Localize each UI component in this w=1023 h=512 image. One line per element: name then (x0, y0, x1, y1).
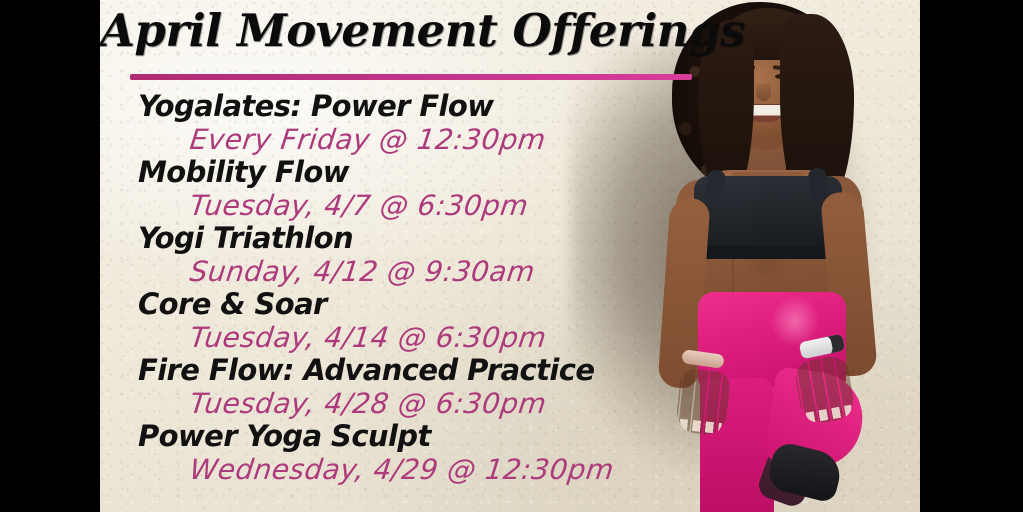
title-divider-rule (130, 74, 692, 80)
list-item: Power Yoga Sculpt Wednesday, 4/29 @ 12:3… (100, 420, 700, 486)
flyer-poster: April Movement Offerings Yogalates: Powe… (0, 0, 1023, 512)
flyer-content-area: April Movement Offerings Yogalates: Powe… (100, 0, 920, 512)
class-schedule-list: Yogalates: Power Flow Every Friday @ 12:… (100, 90, 700, 486)
class-name: Yogalates: Power Flow (100, 90, 700, 123)
class-time: Tuesday, 4/28 @ 6:30pm (100, 387, 702, 420)
list-item: Core & Soar Tuesday, 4/14 @ 6:30pm (100, 288, 700, 354)
class-name: Fire Flow: Advanced Practice (100, 354, 700, 387)
class-time: Sunday, 4/12 @ 9:30am (100, 255, 702, 288)
letterbox-bar-left (0, 0, 100, 512)
list-item: Mobility Flow Tuesday, 4/7 @ 6:30pm (100, 156, 700, 222)
class-name: Yogi Triathlon (100, 222, 700, 255)
class-name: Core & Soar (100, 288, 700, 321)
list-item: Fire Flow: Advanced Practice Tuesday, 4/… (100, 354, 700, 420)
letterbox-bar-right (920, 0, 1023, 512)
list-item: Yogalates: Power Flow Every Friday @ 12:… (100, 90, 700, 156)
class-name: Mobility Flow (100, 156, 700, 189)
list-item: Yogi Triathlon Sunday, 4/12 @ 9:30am (100, 222, 700, 288)
class-time: Tuesday, 4/14 @ 6:30pm (100, 321, 702, 354)
class-name: Power Yoga Sculpt (100, 420, 700, 453)
class-time: Tuesday, 4/7 @ 6:30pm (100, 189, 702, 222)
page-title: April Movement Offerings (100, 4, 700, 57)
bra-band (694, 246, 842, 259)
class-time: Wednesday, 4/29 @ 12:30pm (100, 453, 702, 486)
class-time: Every Friday @ 12:30pm (100, 123, 702, 156)
nose (756, 84, 771, 101)
